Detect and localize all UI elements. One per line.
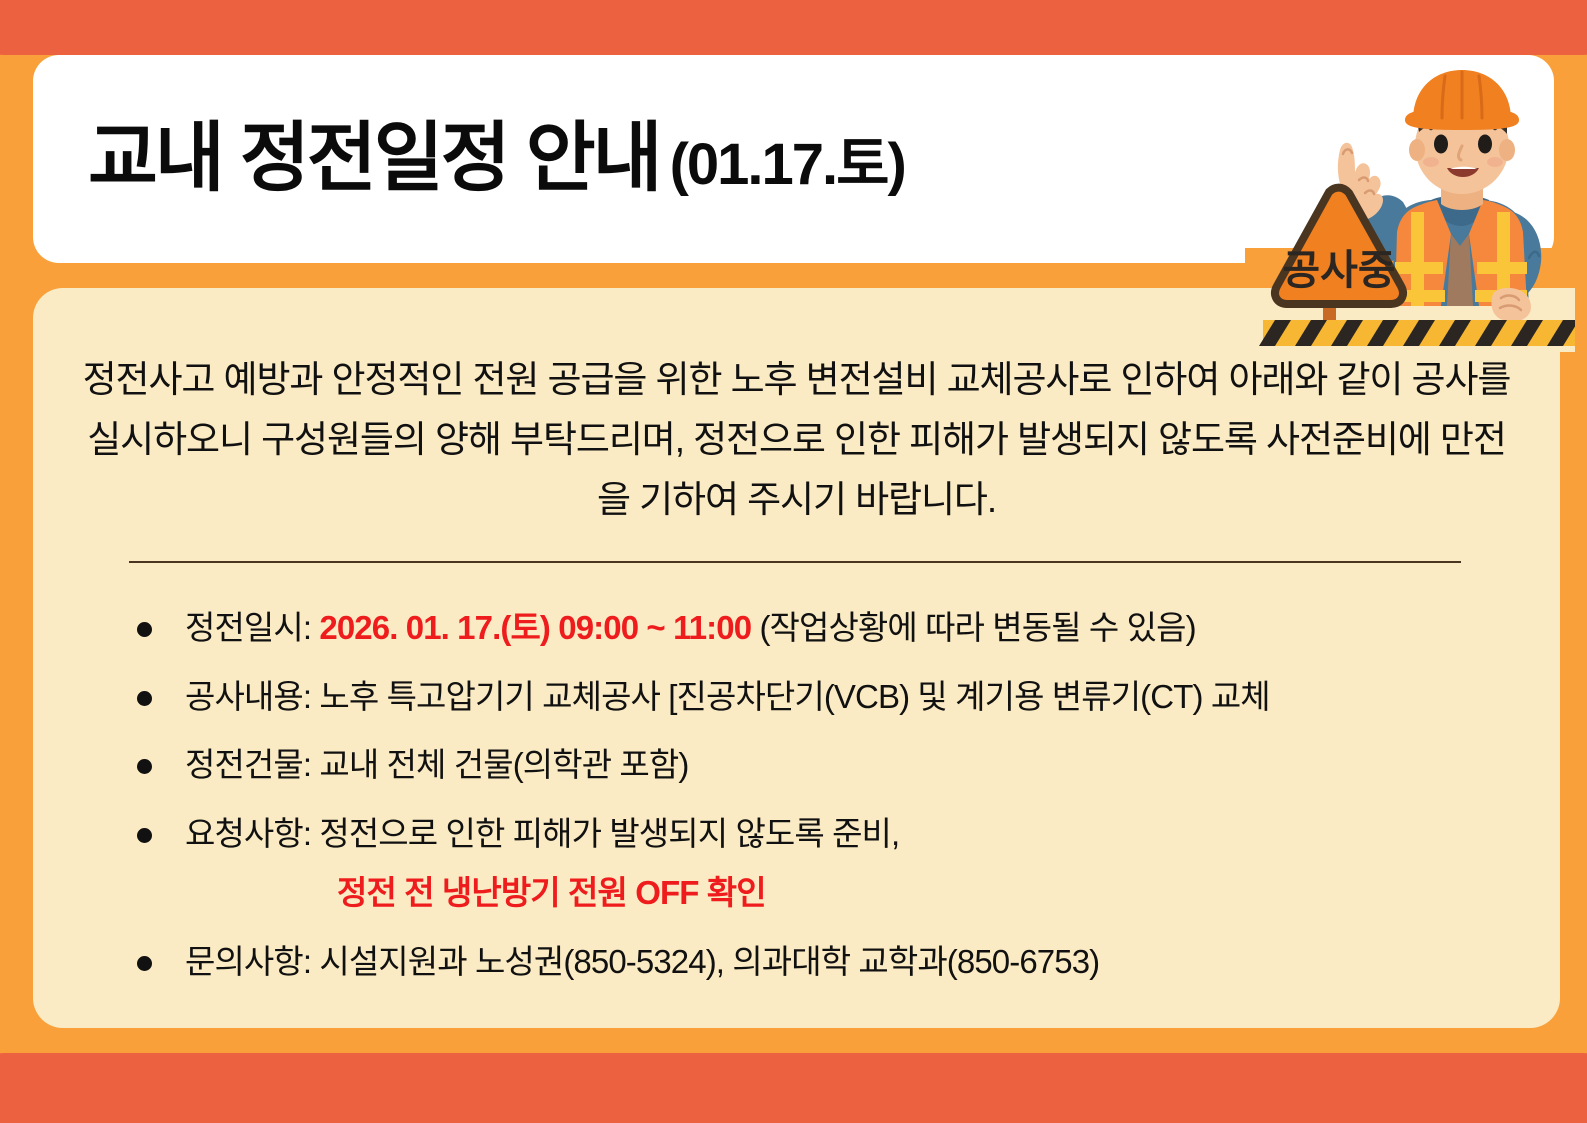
bullet-dot-icon bbox=[137, 759, 152, 774]
list-item: 요청사항: 정전으로 인한 피해가 발생되지 않도록 준비, 정전 전 냉난방기… bbox=[129, 812, 1529, 915]
poster-root: 교내 정전일정 안내(01.17.토) 정전사고 예방과 안정적인 전원 공급을… bbox=[0, 0, 1587, 1123]
list-item-text: 교내 전체 건물(의학관 포함) bbox=[319, 746, 688, 783]
list-item-subline: 정전 전 냉난방기 전원 OFF 확인 bbox=[337, 871, 1529, 915]
section-divider bbox=[129, 561, 1461, 563]
bullet-dot-icon bbox=[137, 622, 152, 637]
page-title: 교내 정전일정 안내(01.17.토) bbox=[88, 121, 905, 197]
vest-stripe bbox=[1395, 262, 1443, 274]
list-item-highlight: 2026. 01. 17.(토) 09:00 ~ 11:00 bbox=[319, 609, 759, 646]
list-item-label: 정전건물: bbox=[185, 746, 319, 783]
bullet-dot-icon bbox=[137, 691, 152, 706]
title-card: 교내 정전일정 안내(01.17.토) bbox=[33, 55, 1554, 263]
list-item-tail: (작업상황에 따라 변동될 수 있음) bbox=[759, 609, 1195, 646]
list-item-text: 시설지원과 노성권(850-5324), 의과대학 교학과(850-6753) bbox=[319, 943, 1099, 980]
content-card: 정전사고 예방과 안정적인 전원 공급을 위한 노후 변전설비 교체공사로 인하… bbox=[33, 288, 1560, 1028]
vest-stripe bbox=[1477, 262, 1527, 274]
title-main-text: 교내 정전일정 안내 bbox=[88, 116, 660, 201]
list-item: 정전일시: 2026. 01. 17.(토) 09:00 ~ 11:00 (작업… bbox=[129, 606, 1529, 650]
list-item-label: 문의사항: bbox=[185, 943, 319, 980]
list-item-label: 공사내용: bbox=[185, 678, 319, 715]
list-item-text: 노후 특고압기기 교체공사 [진공차단기(VCB) 및 계기용 변류기(CT) … bbox=[319, 678, 1269, 715]
bullet-dot-icon bbox=[137, 828, 152, 843]
details-list: 정전일시: 2026. 01. 17.(토) 09:00 ~ 11:00 (작업… bbox=[129, 606, 1529, 1008]
bottom-accent-band bbox=[0, 1053, 1587, 1123]
list-item-label: 정전일시: bbox=[185, 609, 319, 646]
top-accent-band bbox=[0, 0, 1587, 55]
list-item-label: 요청사항: bbox=[185, 815, 319, 852]
title-date-text: (01.17.토) bbox=[670, 132, 905, 197]
list-item: 공사내용: 노후 특고압기기 교체공사 [진공차단기(VCB) 및 계기용 변류… bbox=[129, 675, 1529, 719]
intro-paragraph: 정전사고 예방과 안정적인 전원 공급을 위한 노후 변전설비 교체공사로 인하… bbox=[73, 350, 1520, 530]
list-item-text: 정전으로 인한 피해가 발생되지 않도록 준비, bbox=[319, 815, 899, 852]
list-item: 정전건물: 교내 전체 건물(의학관 포함) bbox=[129, 743, 1529, 787]
bullet-dot-icon bbox=[137, 956, 152, 971]
list-item: 문의사항: 시설지원과 노성권(850-5324), 의과대학 교학과(850-… bbox=[129, 940, 1529, 984]
